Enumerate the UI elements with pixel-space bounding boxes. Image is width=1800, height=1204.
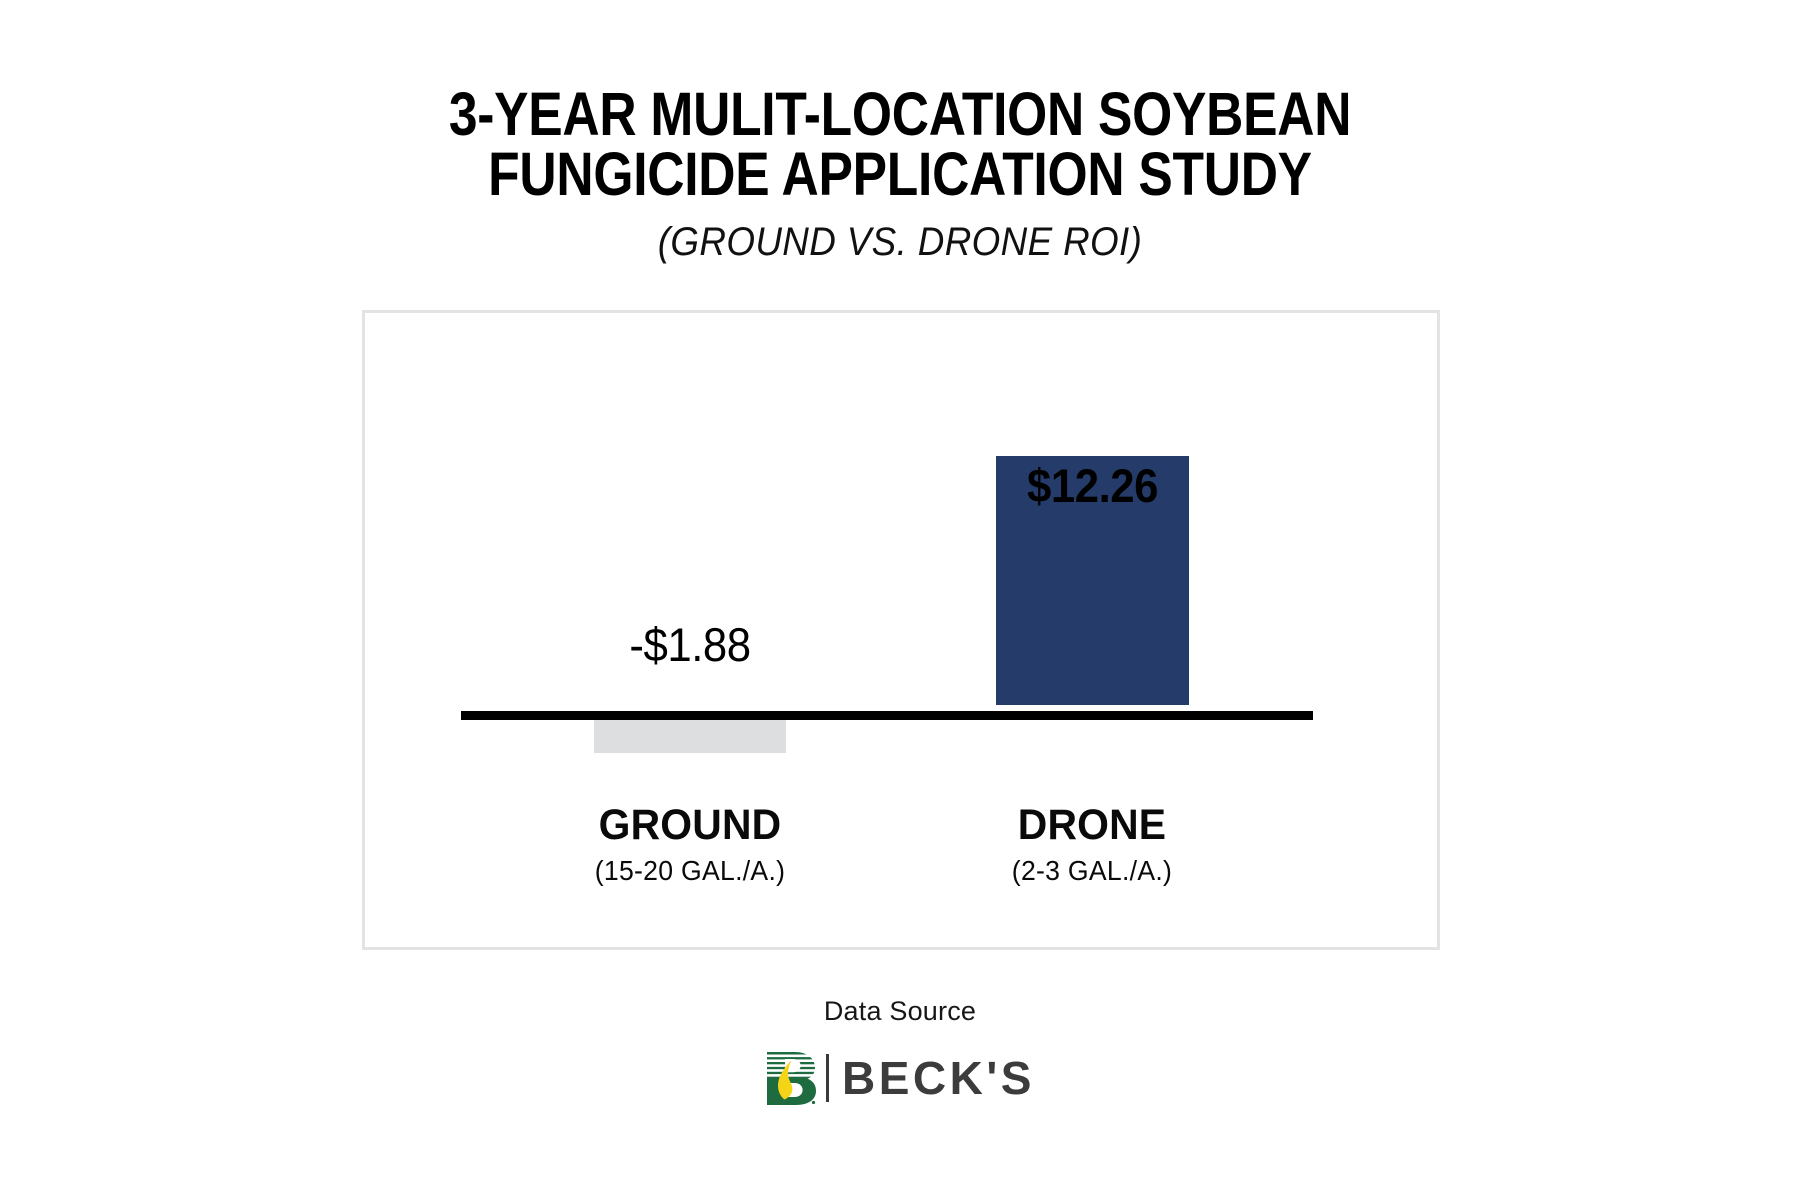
zero-baseline-axis [461, 711, 1313, 720]
becks-b-logo-icon [765, 1050, 817, 1106]
becks-logo: BECK'S [0, 1049, 1800, 1107]
bar-value-ground: -$1.88 [601, 617, 780, 672]
category-name-drone: DRONE [931, 801, 1254, 849]
category-name-ground: GROUND [529, 801, 852, 849]
bar-value-drone: $12.26 [1003, 458, 1182, 513]
page-title-line-1: 3-YEAR MULIT-LOCATION SOYBEAN [140, 84, 1661, 144]
category-label-drone: DRONE (2-3 GAL./A.) [922, 801, 1262, 887]
category-label-ground: GROUND (15-20 GAL./A.) [520, 801, 860, 887]
becks-wordmark: BECK'S [842, 1055, 1035, 1101]
chart-panel: $12.26 -$1.88 GROUND (15-20 GAL./A.) DRO… [362, 310, 1440, 950]
data-source-label: Data Source [0, 996, 1800, 1027]
bar-ground [594, 720, 786, 753]
page-title-line-2: FUNGICIDE APPLICATION STUDY [140, 144, 1661, 204]
category-sublabel-drone: (2-3 GAL./A.) [931, 855, 1254, 887]
category-sublabel-ground: (15-20 GAL./A.) [529, 855, 852, 887]
title-block: 3-YEAR MULIT-LOCATION SOYBEAN FUNGICIDE … [0, 84, 1800, 264]
logo-divider [826, 1054, 829, 1102]
plot-area: $12.26 -$1.88 GROUND (15-20 GAL./A.) DRO… [365, 313, 1437, 947]
footer: Data Source BECK'S [0, 996, 1800, 1107]
page-subtitle: (GROUND VS. DRONE ROI) [72, 220, 1728, 264]
